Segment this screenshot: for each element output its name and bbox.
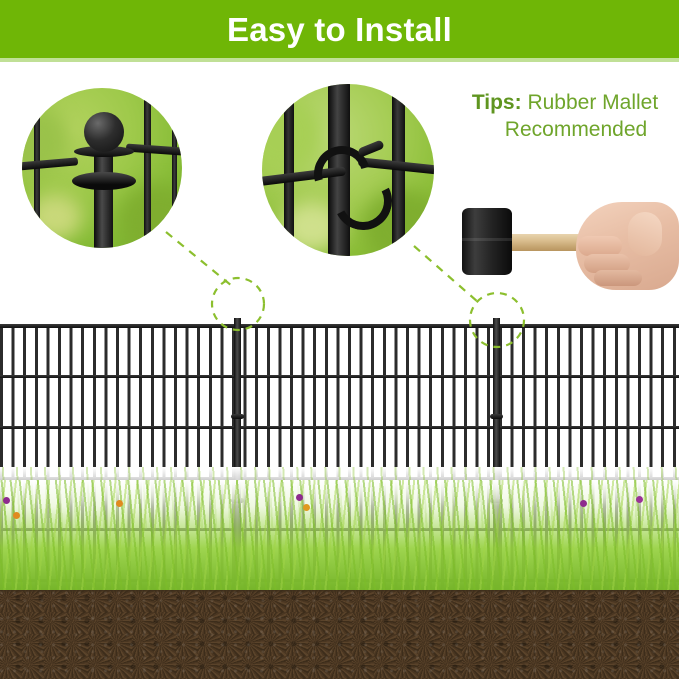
flower (636, 496, 643, 503)
post-joint (490, 414, 503, 419)
callout-post-finial (22, 88, 182, 248)
mallet-head-band (462, 238, 512, 241)
tips-text-2: Recommended (455, 117, 675, 144)
fence-rail (0, 324, 679, 328)
flower (13, 512, 20, 519)
tips-label: Tips: (472, 91, 522, 114)
tips-text-1: Rubber Mallet (527, 91, 658, 114)
s-hook-tip (357, 139, 384, 157)
grass-band (0, 480, 679, 590)
post-shaft (94, 150, 113, 248)
fence-scene (0, 318, 679, 679)
page-title: Easy to Install (227, 13, 452, 46)
tips-line-1: Tips: Rubber Mallet (455, 90, 675, 117)
flower (116, 500, 123, 507)
mallet-head (462, 208, 512, 275)
header-banner: Easy to Install (0, 0, 679, 58)
detail-fence-bar (144, 88, 151, 248)
post-washer (72, 172, 136, 190)
flower (303, 504, 310, 511)
thumb (628, 212, 662, 256)
flower (580, 500, 587, 507)
flower (3, 497, 10, 504)
finger (594, 270, 642, 286)
post-joint (231, 414, 244, 419)
fence-rail (0, 426, 679, 429)
post-ball-finial (84, 112, 124, 152)
product-infographic: Easy to Install Tips: Rubber Mallet Reco… (0, 0, 679, 679)
soil-surface-line (0, 590, 679, 593)
detail-fence-bar (172, 88, 177, 248)
fence-rail (0, 375, 679, 378)
detail-fence-bar (284, 84, 294, 256)
flower (296, 494, 303, 501)
callout-s-hook (262, 84, 434, 256)
rubber-mallet-with-hand (452, 192, 679, 294)
soil-cross-section (0, 590, 679, 679)
finger (578, 236, 622, 256)
header-underline (0, 58, 679, 62)
tips-callout-text: Tips: Rubber Mallet Recommended (455, 90, 675, 144)
